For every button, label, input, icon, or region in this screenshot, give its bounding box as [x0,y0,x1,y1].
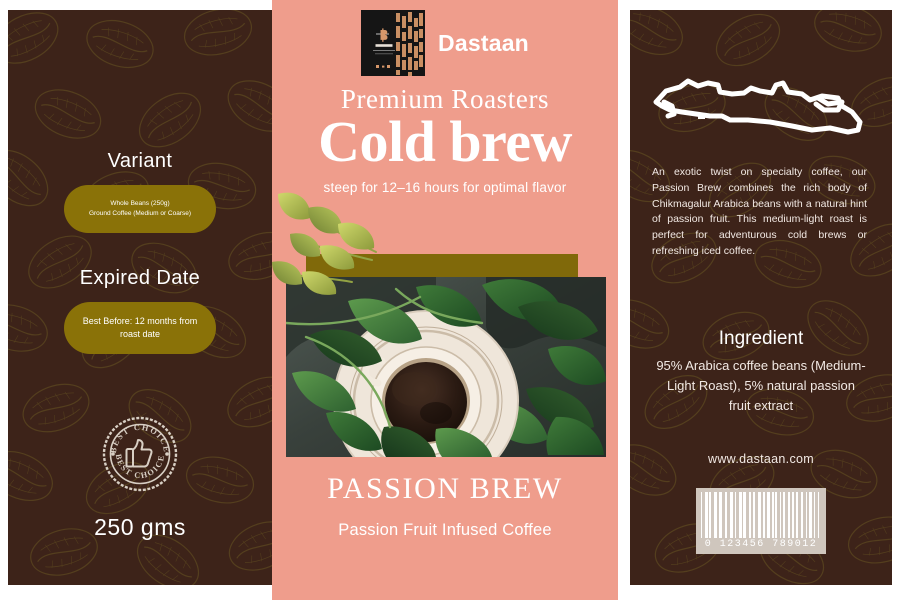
product-title: Cold brew [272,108,618,175]
brand-row: Dastaan [272,10,618,76]
product-description: An exotic twist on specialty coffee, our… [652,165,867,260]
footer-title: PASSION BREW [272,472,618,506]
variant-value-pill: Whole Beans (250g) Ground Coffee (Medium… [64,185,216,233]
left-panel: Variant Whole Beans (250g) Ground Coffee… [8,10,272,585]
barcode: 0 123456 789012 [696,488,826,554]
variant-heading: Variant [108,150,173,173]
variant-line-2: Ground Coffee (Medium or Coarse) [89,209,191,219]
expiry-heading: Expired Date [80,267,200,290]
dastaan-logo-icon [361,10,425,76]
svg-text:BEST CHOICE: BEST CHOICE [109,423,171,454]
expiry-value-pill: Best Before: 12 months from roast date [64,302,216,354]
packaging-artboard: Variant Whole Beans (250g) Ground Coffee… [0,0,900,600]
footer-subtitle: Passion Fruit Infused Coffee [272,521,618,540]
steep-instruction: steep for 12–16 hours for optimal flavor [272,180,618,195]
net-weight-label: 250 gms [94,514,186,541]
variant-line-1: Whole Beans (250g) [89,199,191,209]
center-panel: Dastaan Premium Roasters Cold brew steep… [272,0,618,600]
java-island-map-icon [652,72,867,144]
barcode-digits: 0 123456 789012 [701,539,821,550]
product-photo [286,277,606,457]
barcode-bars [701,492,821,538]
ingredient-heading: Ingredient [630,328,892,350]
best-choice-seal: BEST CHOICE BEST CHOICE [102,416,178,492]
brand-name: Dastaan [438,30,529,57]
website-url[interactable]: www.dastaan.com [630,452,892,466]
ingredient-body: 95% Arabica coffee beans (Medium-Light R… [656,356,866,416]
right-panel: An exotic twist on specialty coffee, our… [630,10,892,585]
